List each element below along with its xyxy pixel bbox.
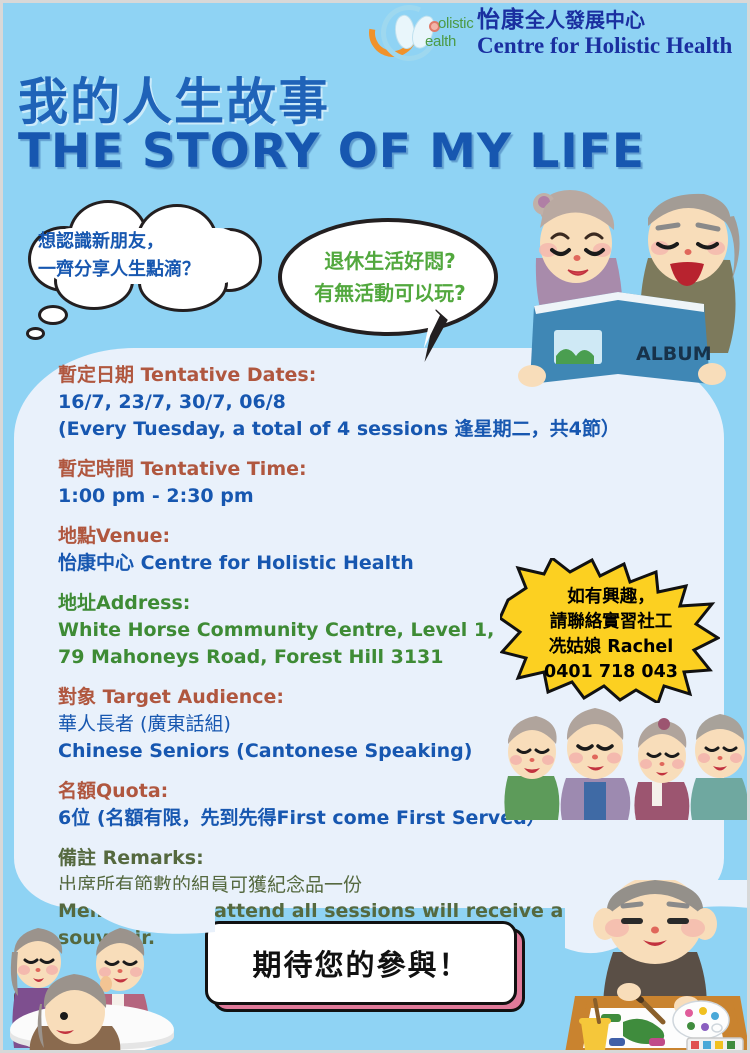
time-label: 暫定時間 Tentative Time: <box>58 456 618 483</box>
cta-box: 期待您的參與！ <box>205 921 517 1005</box>
thought-bubble-text: 想認識新朋友， 一齊分享人生點滴？ <box>38 228 258 284</box>
org-name-en: Centre for Holistic Health <box>477 33 732 59</box>
contact-phone-number: 0401 718 043 <box>505 660 717 685</box>
thought-bubble-tail-small <box>26 327 45 340</box>
seniors-at-table-illustration <box>0 890 215 1053</box>
dates-label: 暫定日期 Tentative Dates: <box>58 362 618 389</box>
dates-value-line-2: (Every Tuesday, a total of 4 sessions 逢星… <box>58 416 618 443</box>
detail-time: 暫定時間 Tentative Time: 1:00 pm - 2:30 pm <box>58 456 618 510</box>
holistic-health-butterfly-logo-icon: olistic ealth <box>365 3 473 63</box>
org-name-cn-big: 怡康 <box>477 7 525 32</box>
logo-word-top: olistic <box>438 15 473 32</box>
detail-dates: 暫定日期 Tentative Dates: 16/7, 23/7, 30/7, … <box>58 362 618 443</box>
speech-line-1: 退休生活好悶? <box>300 245 480 277</box>
speech-line-2: 有無活動可以玩? <box>300 277 480 309</box>
album-label: ALBUM <box>636 343 712 365</box>
contact-line-1: 如有興趣， <box>505 585 717 610</box>
thought-line-1: 想認識新朋友， <box>38 228 258 256</box>
organisation-header: olistic ealth 怡康全人發展中心 Centre for Holist… <box>365 2 750 64</box>
logo-word-bottom: ealth <box>425 33 456 50</box>
page-title-english: THE STORY OF MY LIFE <box>18 124 645 179</box>
organisation-names: 怡康全人發展中心 Centre for Holistic Health <box>473 7 732 59</box>
thought-bubble-tail-large <box>38 305 68 325</box>
org-name-cn-small: 全人發展中心 <box>525 10 645 32</box>
four-seniors-group-illustration <box>492 690 750 820</box>
thought-line-2: 一齊分享人生點滴？ <box>38 256 258 284</box>
senior-painting-illustration <box>565 880 750 1053</box>
venue-label: 地點Venue: <box>58 523 618 550</box>
contact-starburst-text: 如有興趣， 請聯絡實習社工 冼姑娘 Rachel 0401 718 043 <box>505 585 717 684</box>
remarks-label: 備註 Remarks: <box>58 845 618 872</box>
dates-value-line-1: 16/7, 23/7, 30/7, 06/8 <box>58 389 618 416</box>
elderly-couple-reading-album-illustration: ALBUM <box>498 188 750 388</box>
cta-text: 期待您的參與！ <box>252 942 469 984</box>
speech-bubble-text: 退休生活好悶? 有無活動可以玩? <box>300 245 480 309</box>
contact-line-3: 冼姑娘 Rachel <box>505 635 717 660</box>
contact-line-2: 請聯絡實習社工 <box>505 610 717 635</box>
time-value: 1:00 pm - 2:30 pm <box>58 483 618 510</box>
poster-root: olistic ealth 怡康全人發展中心 Centre for Holist… <box>0 0 750 1053</box>
